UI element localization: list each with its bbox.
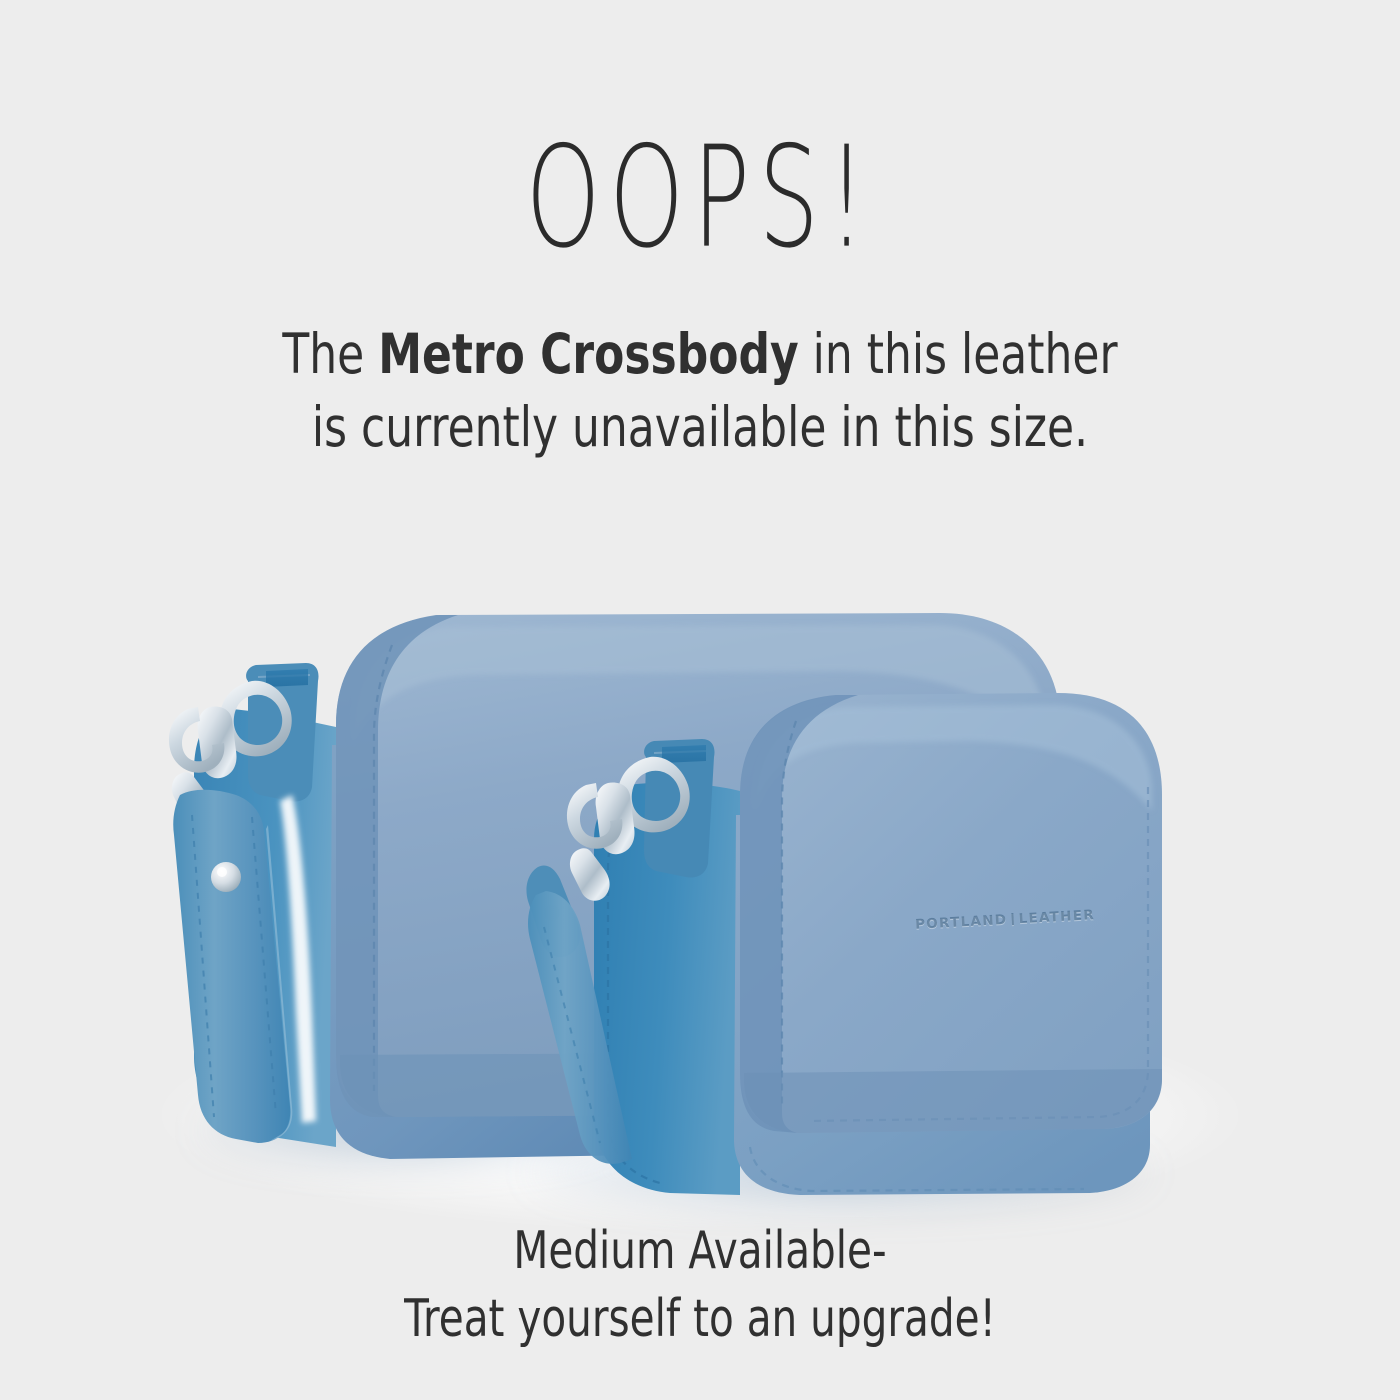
- upsell-message: Medium Available- Treat yourself to an u…: [154, 1218, 1246, 1353]
- message-prefix: The: [282, 322, 378, 386]
- unavailable-message: The Metro Crossbody in this leather is c…: [140, 318, 1260, 463]
- upsell-line-2: Treat yourself to an upgrade!: [154, 1286, 1246, 1354]
- page-title: OOPS!: [196, 128, 1204, 268]
- front-flap-bottom-shade: [744, 1069, 1162, 1133]
- product-name: Metro Crossbody: [378, 322, 798, 386]
- crossbody-bags-illustration: [140, 495, 1260, 1195]
- unavailable-message-line-2: is currently unavailable in this size.: [140, 391, 1260, 464]
- front-bag-small: [594, 693, 1162, 1195]
- upsell-line-1: Medium Available-: [154, 1218, 1246, 1286]
- message-suffix: in this leather: [799, 322, 1118, 386]
- strap-rivet-glint: [217, 867, 227, 877]
- brand-emboss-separator: ❙: [1007, 911, 1018, 926]
- promo-card: OOPS! The Metro Crossbody in this leathe…: [0, 0, 1400, 1400]
- unavailable-message-line-1: The Metro Crossbody in this leather: [140, 318, 1260, 391]
- rear-bag-inner-shadow: [266, 669, 308, 687]
- front-bag-inner-shadow: [662, 745, 706, 763]
- strap-rivet-icon: [211, 862, 241, 892]
- product-image: PORTLAND❙LEATHER: [140, 495, 1260, 1195]
